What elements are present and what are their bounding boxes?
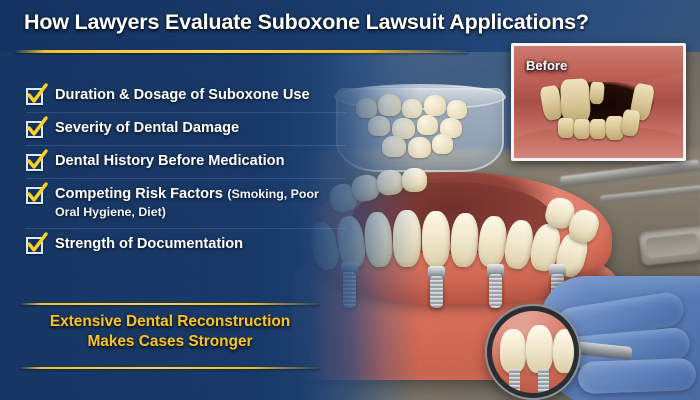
list-item: Strength of Documentation (26, 228, 346, 261)
callout-line-2: Makes Cases Stronger (20, 332, 320, 352)
checklist: Duration & Dosage of Suboxone Use Severi… (26, 80, 346, 261)
damaged-tooth (590, 119, 606, 139)
damaged-tooth (589, 82, 605, 105)
checkbox-checked-icon (26, 121, 43, 138)
damaged-tooth (574, 119, 590, 139)
before-label: Before (526, 58, 567, 73)
checkbox-checked-icon (26, 237, 43, 254)
list-item: Duration & Dosage of Suboxone Use (26, 80, 346, 112)
list-item-label: Competing Risk Factors (55, 186, 223, 202)
callout-divider-bottom (20, 367, 320, 369)
checkbox-checked-icon (26, 88, 43, 105)
page-title: How Lawyers Evaluate Suboxone Lawsuit Ap… (24, 10, 664, 35)
list-item: Competing Risk Factors (Smoking, Poor Or… (26, 178, 346, 228)
damaged-tooth (558, 118, 574, 138)
list-item-label: Dental History Before Medication (55, 153, 285, 169)
checkbox-checked-icon (26, 154, 43, 171)
list-item: Dental History Before Medication (26, 145, 346, 178)
infographic-canvas: How Lawyers Evaluate Suboxone Lawsuit Ap… (0, 0, 700, 400)
checkbox-checked-icon (26, 187, 43, 204)
list-item-label: Severity of Dental Damage (55, 120, 239, 136)
before-photo-inset: Before (511, 43, 686, 161)
callout-divider-top (20, 303, 320, 305)
list-item-label: Strength of Documentation (55, 236, 243, 252)
list-item: Severity of Dental Damage (26, 112, 346, 145)
title-divider (14, 50, 468, 53)
callout-line-1: Extensive Dental Reconstruction (20, 312, 320, 332)
callout-text: Extensive Dental Reconstruction Makes Ca… (20, 312, 320, 351)
list-item-label: Duration & Dosage of Suboxone Use (55, 87, 310, 103)
